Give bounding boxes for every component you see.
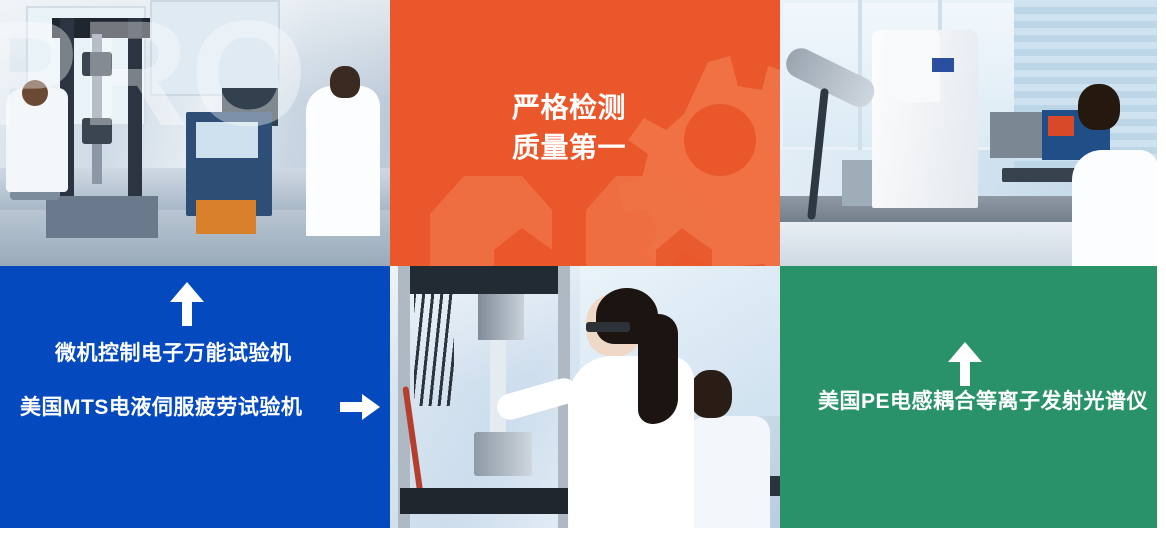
photo-sem-badge bbox=[932, 58, 954, 72]
blue-panel-caption-1: 微机控制电子万能试验机 bbox=[55, 340, 292, 368]
photo-wiring bbox=[414, 286, 454, 406]
photo-machine-crosshead bbox=[404, 266, 570, 294]
arrow-up-icon bbox=[948, 342, 982, 386]
arrow-up-icon bbox=[170, 282, 204, 326]
photo-instrument-stand bbox=[842, 160, 872, 206]
spectrometer-panel-green: 美国PE电感耦合等离子发射光谱仪 bbox=[780, 266, 1157, 528]
photo-control-screen bbox=[196, 122, 258, 158]
photo-technician-glasses bbox=[586, 322, 630, 332]
photo-technician-ponytail bbox=[638, 314, 678, 424]
photo-window-pane bbox=[150, 0, 280, 96]
photo-machine-base bbox=[46, 196, 158, 238]
arrow-right-icon bbox=[340, 394, 380, 420]
testing-equipment-panel-blue: 微机控制电子万能试验机 美国MTS电液伺服疲劳试验机 bbox=[0, 266, 390, 528]
photo-technician-head bbox=[690, 370, 732, 418]
photo-machine-grip bbox=[82, 52, 112, 76]
photo-specimen-fixture bbox=[474, 432, 532, 476]
photo-test-specimen bbox=[490, 340, 506, 436]
capability-grid: PRO 严格检测 质量第一 bbox=[0, 0, 1166, 537]
scanning-electron-microscope-photo bbox=[780, 0, 1157, 266]
photo-actuator bbox=[478, 294, 524, 340]
photo-operator-head bbox=[330, 66, 360, 98]
green-panel-caption: 美国PE电感耦合等离子发射光谱仪 bbox=[818, 388, 1148, 416]
photo-operator-coat bbox=[1072, 150, 1157, 266]
universal-testing-machine-photo: PRO bbox=[0, 0, 390, 266]
slogan-panel: 严格检测 质量第一 bbox=[390, 0, 780, 266]
slogan-line-2: 质量第一 bbox=[512, 128, 626, 168]
fatigue-testing-machine-photo bbox=[390, 266, 780, 528]
photo-operator-head bbox=[22, 80, 48, 106]
photo-operator-head bbox=[1078, 84, 1120, 130]
slogan-line-1: 严格检测 bbox=[512, 88, 626, 128]
photo-operator-right bbox=[306, 86, 380, 236]
photo-machine-grip bbox=[82, 118, 112, 144]
blue-panel-caption-2: 美国MTS电液伺服疲劳试验机 bbox=[20, 394, 302, 422]
photo-equipment-box bbox=[196, 200, 256, 234]
photo-monitor bbox=[990, 112, 1044, 158]
photo-machine-base bbox=[400, 488, 586, 514]
